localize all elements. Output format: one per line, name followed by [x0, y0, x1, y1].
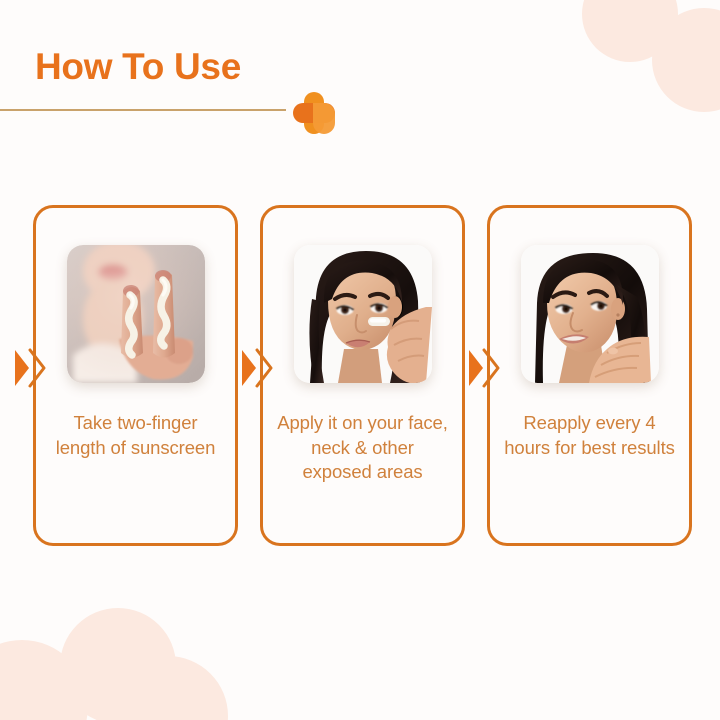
chevron-right-icon [13, 346, 47, 390]
chevron-right-icon [467, 346, 501, 390]
two-fingers-with-sunscreen-photo [67, 245, 205, 383]
step-image-frame-2 [294, 245, 432, 383]
step-caption-2: Apply it on your face, neck & other expo… [275, 411, 451, 485]
step-card-1[interactable]: Take two-finger length of sunscreen [33, 205, 238, 546]
page-title: How To Use [35, 48, 720, 85]
chevron-right-icon [240, 346, 274, 390]
decorative-blob-bottom-left-a [60, 608, 176, 720]
title-underline-row [0, 101, 720, 137]
woman-applying-cream-to-cheek-photo [294, 245, 432, 383]
step-card-3[interactable]: Reapply every 4 hours for best results [487, 205, 692, 546]
how-to-use-steps: Take two-finger length of sunscreen [33, 205, 692, 546]
woman-touching-jawline-photo [521, 245, 659, 383]
page-header: How To Use [0, 48, 720, 137]
step-caption-1: Take two-finger length of sunscreen [48, 411, 224, 460]
clover-plus-icon [293, 92, 335, 134]
decorative-blob-bottom-left-b [0, 640, 88, 720]
title-underline [0, 109, 286, 111]
clover-light-petal [313, 103, 335, 134]
step-image-frame-1 [67, 245, 205, 383]
step-image-frame-3 [521, 245, 659, 383]
step-card-2[interactable]: Apply it on your face, neck & other expo… [260, 205, 465, 546]
decorative-blob-bottom-left-c [108, 656, 228, 720]
step-caption-3: Reapply every 4 hours for best results [502, 411, 678, 460]
